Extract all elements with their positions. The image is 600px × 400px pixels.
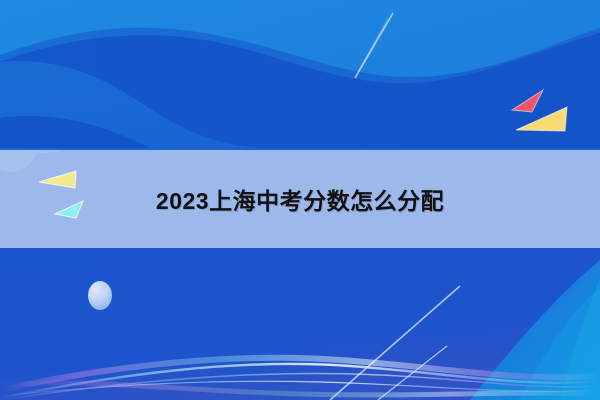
- bottom-section: [0, 248, 600, 400]
- page-title: 2023上海中考分数怎么分配: [0, 150, 600, 248]
- title-band: 2023上海中考分数怎么分配: [0, 150, 600, 248]
- bubble-circle-icon: [88, 281, 112, 310]
- bottom-effects-svg: [0, 248, 600, 400]
- top-wave-section: [0, 0, 600, 150]
- banner-graphic: 2023上海中考分数怎么分配: [0, 0, 600, 400]
- top-wave-svg: [0, 0, 600, 150]
